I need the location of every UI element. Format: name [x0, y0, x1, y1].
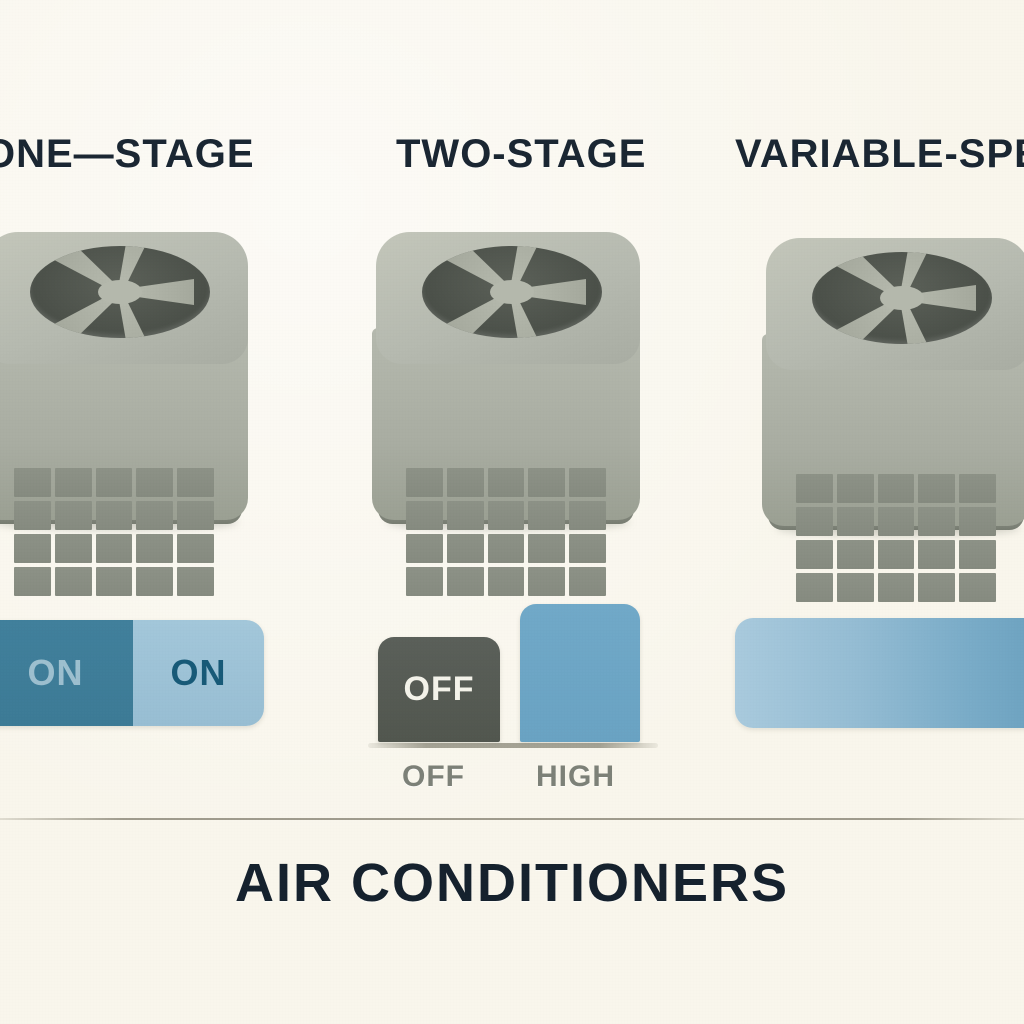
- vent-cell: [569, 534, 606, 563]
- bar-off: OFF: [378, 637, 500, 742]
- vent-cell: [959, 507, 996, 536]
- air-conditioner-unit-one-stage: [0, 232, 252, 532]
- vent-cell: [96, 468, 133, 497]
- vent-cell: [406, 468, 443, 497]
- vent-cell: [959, 474, 996, 503]
- unit-top-panel: [376, 232, 640, 364]
- vent-cell: [528, 534, 565, 563]
- vent-cell: [447, 534, 484, 563]
- column-heading-variable-speed: VARIABLE-SPE: [735, 130, 1024, 178]
- vent-cell: [959, 540, 996, 569]
- vent-cell: [918, 474, 955, 503]
- fan-hub: [98, 280, 142, 304]
- footer-title: AIR CONDITIONERS: [0, 852, 1024, 914]
- vent-cell: [796, 507, 833, 536]
- vent-cell: [488, 534, 525, 563]
- vent-cell: [447, 501, 484, 530]
- unit-top-panel: [766, 238, 1024, 370]
- one-stage-toggle[interactable]: ON ON: [0, 620, 264, 726]
- vent-cell: [878, 540, 915, 569]
- fan-icon: [812, 252, 992, 344]
- toggle-segment-on-inactive[interactable]: ON: [133, 620, 264, 726]
- vent-cell: [96, 567, 133, 596]
- column-heading-two-stage: TWO-STAGE: [396, 130, 646, 178]
- vent-cell: [136, 567, 173, 596]
- vent-cell: [488, 501, 525, 530]
- vent-cell: [55, 567, 92, 596]
- bar-axis-label-off: OFF: [402, 760, 465, 794]
- vent-cell: [406, 501, 443, 530]
- air-conditioner-unit-two-stage: [372, 232, 644, 532]
- vent-cell: [796, 474, 833, 503]
- footer-divider: [0, 818, 1024, 820]
- vent-cell: [837, 573, 874, 602]
- vent-cell: [569, 468, 606, 497]
- vent-cell: [959, 573, 996, 602]
- vent-cell: [177, 468, 214, 497]
- vent-cell: [837, 507, 874, 536]
- vent-cell: [55, 468, 92, 497]
- vent-cell: [136, 468, 173, 497]
- variable-speed-gradient-bar: [735, 618, 1024, 728]
- vent-cell: [177, 534, 214, 563]
- vent-cell: [569, 501, 606, 530]
- vent-cell: [177, 567, 214, 596]
- vent-cell: [447, 468, 484, 497]
- vent-cell: [878, 573, 915, 602]
- toggle-segment-on-active[interactable]: ON: [0, 620, 133, 726]
- vent-cell: [96, 501, 133, 530]
- vent-cell: [918, 540, 955, 569]
- vent-cell: [528, 468, 565, 497]
- fan-icon: [422, 246, 602, 338]
- vent-cell: [918, 507, 955, 536]
- vent-grid: [14, 468, 214, 596]
- unit-top-panel: [0, 232, 248, 364]
- vent-cell: [136, 534, 173, 563]
- vent-cell: [96, 534, 133, 563]
- vent-cell: [14, 534, 51, 563]
- bar-high: [520, 604, 640, 742]
- bar-axis-label-high: HIGH: [536, 760, 615, 794]
- vent-cell: [55, 534, 92, 563]
- fan-icon: [30, 246, 210, 338]
- vent-cell: [878, 474, 915, 503]
- vent-cell: [837, 540, 874, 569]
- vent-cell: [918, 573, 955, 602]
- vent-cell: [406, 534, 443, 563]
- vent-cell: [14, 567, 51, 596]
- fan-hub: [880, 286, 924, 310]
- vent-cell: [878, 507, 915, 536]
- vent-cell: [14, 468, 51, 497]
- air-conditioner-unit-variable-speed: [762, 238, 1024, 538]
- infographic-canvas: ONE—STAGE TWO-STAGE VARIABLE-SPE: [0, 0, 1024, 1024]
- chart-baseline: [368, 743, 658, 748]
- column-heading-one-stage: ONE—STAGE: [0, 130, 255, 178]
- vent-cell: [136, 501, 173, 530]
- vent-cell: [177, 501, 214, 530]
- vent-cell: [14, 501, 51, 530]
- vent-cell: [796, 540, 833, 569]
- vent-grid: [796, 474, 996, 602]
- vent-cell: [55, 501, 92, 530]
- vent-cell: [528, 501, 565, 530]
- vent-cell: [796, 573, 833, 602]
- two-stage-bar-chart: OFF OFF HIGH: [360, 575, 670, 800]
- vent-cell: [837, 474, 874, 503]
- vent-cell: [488, 468, 525, 497]
- fan-hub: [490, 280, 534, 304]
